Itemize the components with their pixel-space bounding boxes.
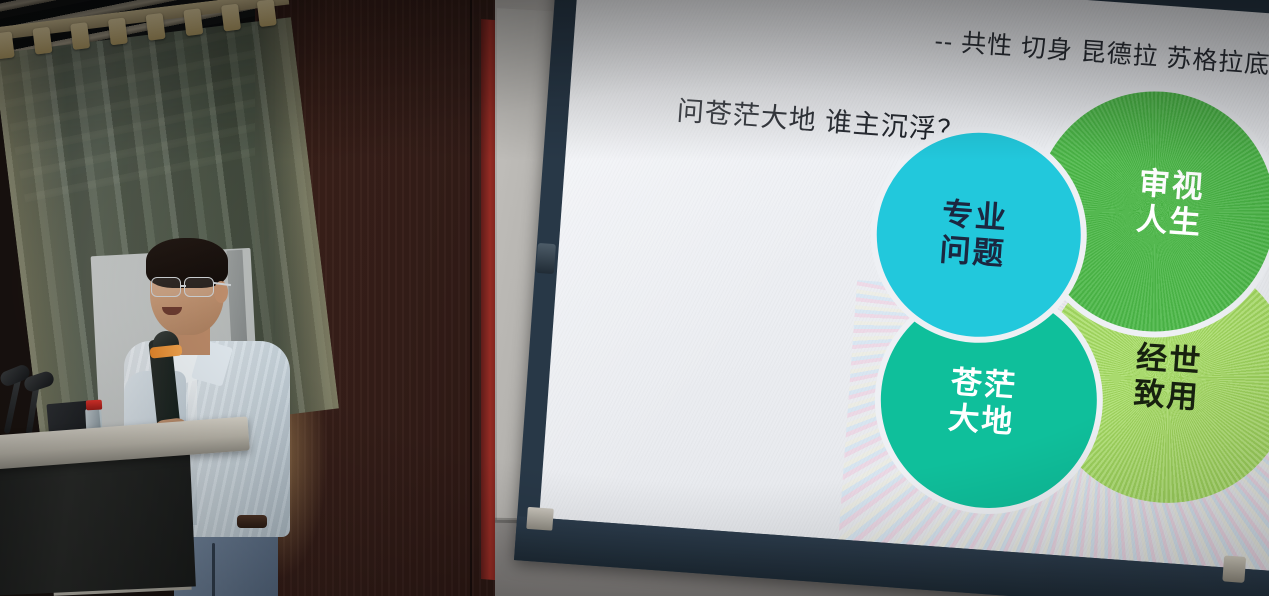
venn-label-green-line1: 审视 bbox=[1138, 166, 1206, 206]
glasses-bridge bbox=[180, 285, 186, 287]
venn-label-lime-line1: 经世 bbox=[1135, 340, 1203, 380]
presentation-slide: 问苍茫大地 谁主沉浮？ -- 共性 切身 昆德拉 苏格拉底 经世 致用 审视 bbox=[539, 0, 1269, 573]
venn-label-cyan-line2: 问题 bbox=[938, 232, 1006, 272]
venn-label-cyan-line1: 专业 bbox=[941, 196, 1009, 236]
glasses-icon bbox=[151, 277, 181, 297]
projection-screen: 问苍茫大地 谁主沉浮？ -- 共性 切身 昆德拉 苏格拉底 经世 致用 审视 bbox=[514, 0, 1269, 596]
projection-surface: 问苍茫大地 谁主沉浮？ -- 共性 切身 昆德拉 苏格拉底 经世 致用 审视 bbox=[539, 0, 1269, 573]
screen-end-cap bbox=[526, 507, 554, 531]
venn-diagram: 经世 致用 审视 人生 苍茫 大地 bbox=[854, 72, 1269, 573]
slide-subtitle: -- 共性 切身 昆德拉 苏格拉底 bbox=[933, 21, 1269, 81]
screen-latch bbox=[536, 243, 556, 274]
water-bottle-cap bbox=[86, 400, 103, 411]
venn-label-lime-line2: 致用 bbox=[1132, 375, 1200, 415]
wristwatch bbox=[237, 515, 267, 528]
lecture-hall-scene: 问苍茫大地 谁主沉浮？ -- 共性 切身 昆德拉 苏格拉底 经世 致用 审视 bbox=[0, 0, 1269, 596]
venn-label-green-line2: 人生 bbox=[1135, 201, 1203, 241]
podium-body bbox=[0, 452, 196, 595]
cable bbox=[212, 543, 215, 596]
glasses-lens-right bbox=[184, 277, 214, 297]
venn-label-teal-line1: 苍茫 bbox=[950, 365, 1018, 405]
venn-label-teal-line2: 大地 bbox=[947, 400, 1015, 440]
screen-knob bbox=[1222, 555, 1246, 583]
